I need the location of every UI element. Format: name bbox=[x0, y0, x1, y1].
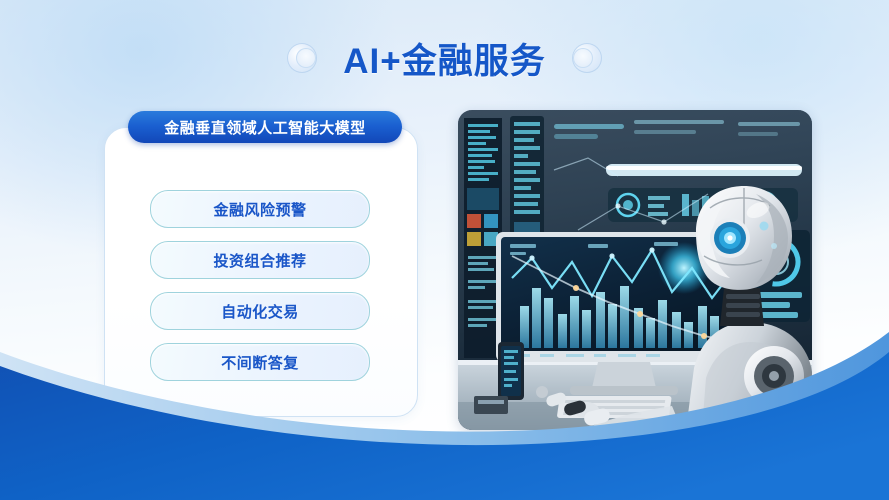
title-ornament-right-icon bbox=[572, 43, 602, 73]
slide-root: AI+金融服务 金融垂直领域人工智能大模型 金融风险预警 投资组合推荐 自动化交… bbox=[0, 0, 889, 500]
feature-item-portfolio-recommendation[interactable]: 投资组合推荐 bbox=[150, 241, 370, 279]
feature-item-label: 投资组合推荐 bbox=[213, 250, 306, 271]
panel-badge-label: 金融垂直领域人工智能大模型 bbox=[164, 117, 366, 138]
feature-list: 金融风险预警 投资组合推荐 自动化交易 不间断答复 bbox=[150, 190, 370, 381]
illustration-photo bbox=[458, 110, 812, 430]
feature-item-label: 金融风险预警 bbox=[213, 199, 306, 220]
feature-item-continuous-response[interactable]: 不间断答复 bbox=[150, 343, 370, 381]
panel-badge: 金融垂直领域人工智能大模型 bbox=[128, 111, 402, 143]
feature-item-automated-trading[interactable]: 自动化交易 bbox=[150, 292, 370, 330]
feature-item-risk-warning[interactable]: 金融风险预警 bbox=[150, 190, 370, 228]
feature-item-label: 不间断答复 bbox=[221, 352, 299, 373]
page-title: AI+金融服务 bbox=[343, 33, 545, 84]
slide-header: AI+金融服务 bbox=[0, 26, 889, 90]
title-ornament-left-icon bbox=[287, 43, 317, 73]
feature-item-label: 自动化交易 bbox=[221, 301, 299, 322]
